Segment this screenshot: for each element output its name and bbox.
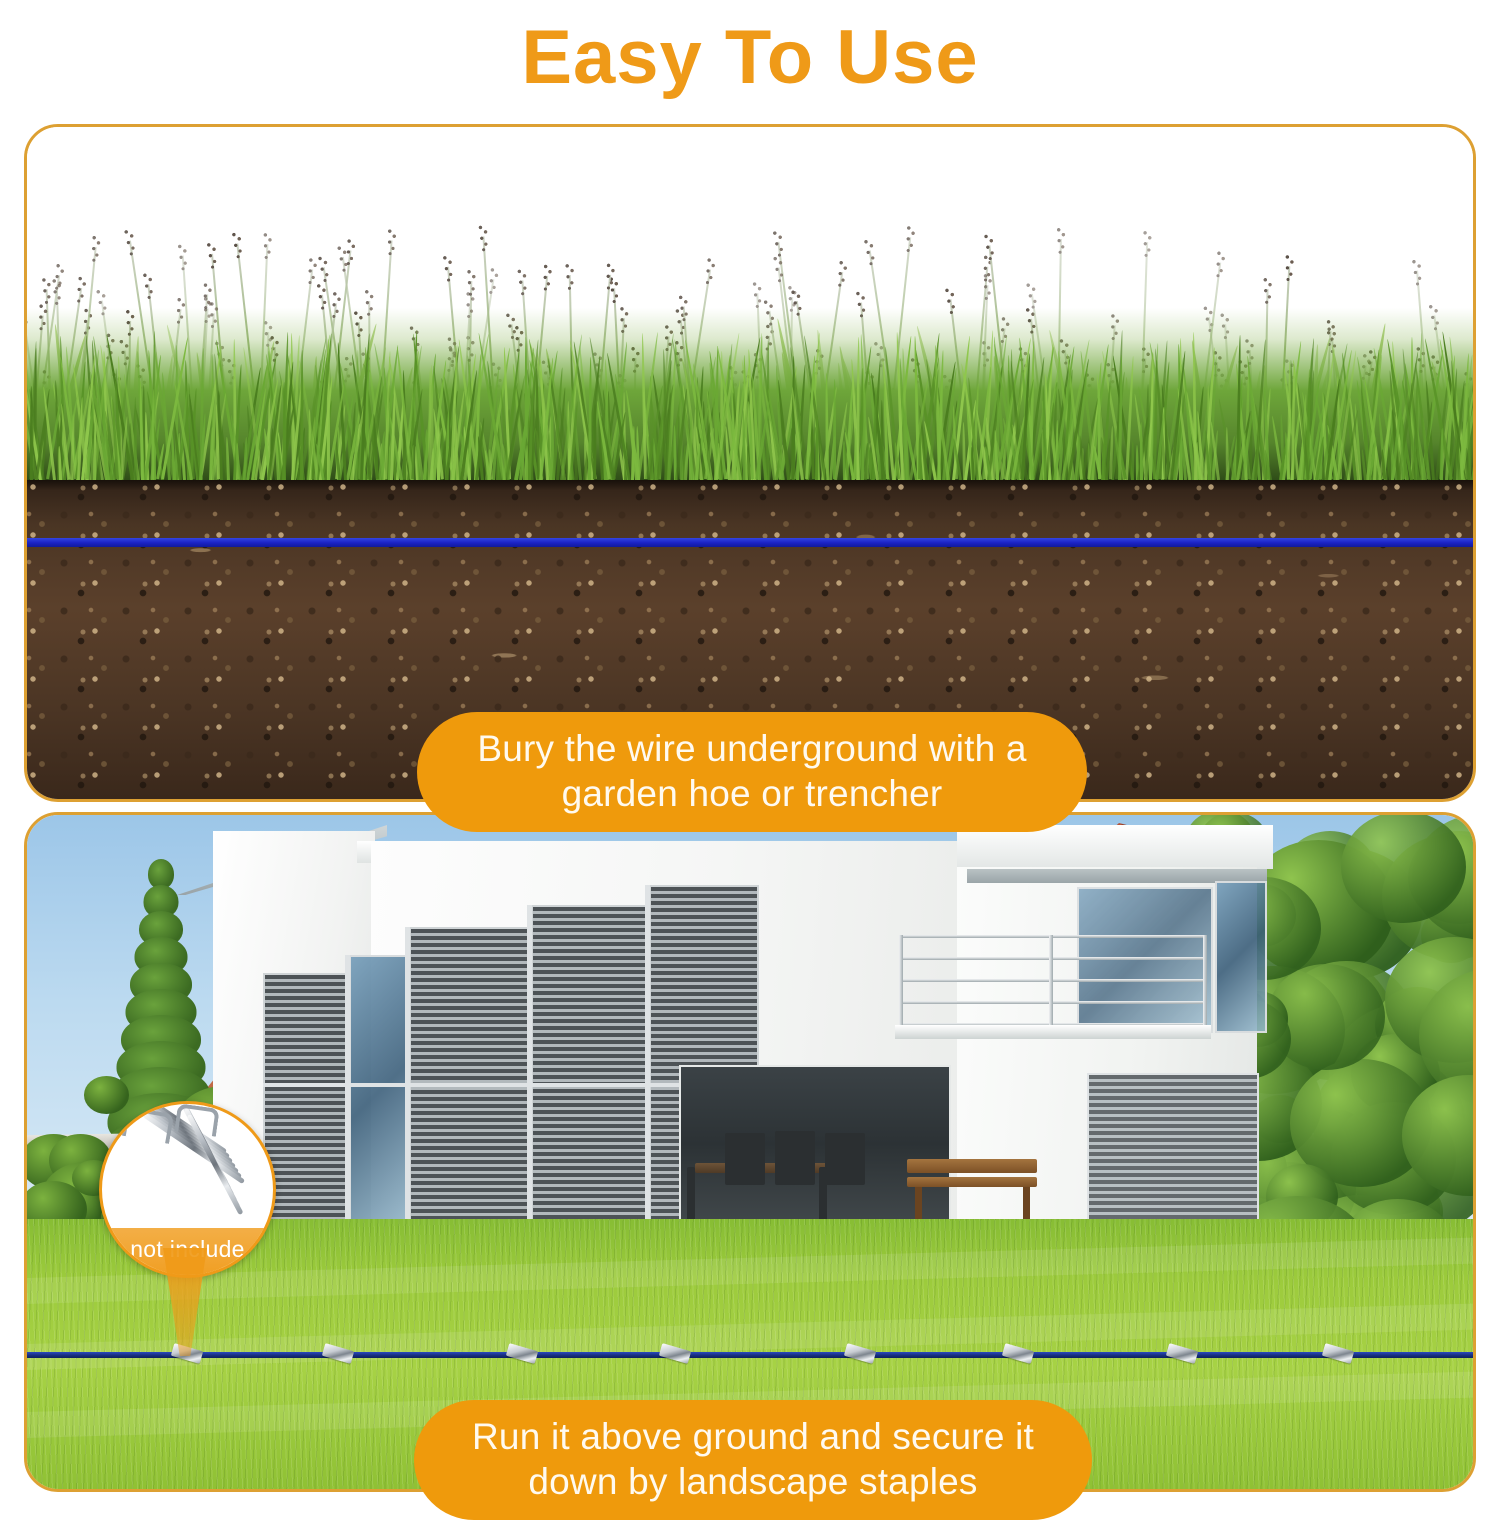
- patio-chair: [775, 1131, 815, 1185]
- garden-bench-slat: [907, 1177, 1037, 1187]
- staple-u-head: [174, 1103, 219, 1137]
- balcony-deck: [895, 1025, 1211, 1039]
- surface-wire-line: [27, 1352, 1473, 1358]
- caption-bury-line1: Bury the wire underground with a: [457, 726, 1047, 771]
- panel-bury-wire: [24, 124, 1476, 802]
- grass-blade: [962, 422, 966, 480]
- caption-bury-wire: Bury the wire underground with a garden …: [417, 712, 1087, 832]
- grass-blades: [27, 308, 1473, 479]
- garden-bench-seat: [907, 1159, 1037, 1173]
- tree-foliage-clump: [1341, 812, 1466, 923]
- window-mullion: [345, 955, 350, 1245]
- glass-panel-upper: [1215, 881, 1267, 1033]
- balcony-railing: [899, 935, 1207, 1027]
- grass-blade: [1131, 441, 1134, 480]
- window-mullion: [527, 905, 532, 1247]
- caption-above-ground: Run it above ground and secure it down b…: [414, 1400, 1092, 1520]
- blinds-panel: [531, 905, 649, 1247]
- grass-blade: [824, 373, 828, 480]
- patio-chair: [825, 1133, 865, 1185]
- grass-blade: [225, 437, 230, 480]
- grass-blade: [1440, 428, 1444, 480]
- caption-run-line2: down by landscape staples: [454, 1459, 1052, 1504]
- turf-band: [27, 308, 1473, 479]
- patio-chair: [725, 1133, 765, 1185]
- window-mullion: [645, 885, 650, 1245]
- caption-run-line1: Run it above ground and secure it: [454, 1414, 1052, 1459]
- glass-panel: [349, 955, 409, 1243]
- caption-bury-line2: garden hoe or trencher: [457, 771, 1047, 816]
- buried-wire-line: [27, 538, 1473, 547]
- page-title: Easy To Use: [0, 8, 1500, 108]
- blinds-panel: [263, 973, 349, 1241]
